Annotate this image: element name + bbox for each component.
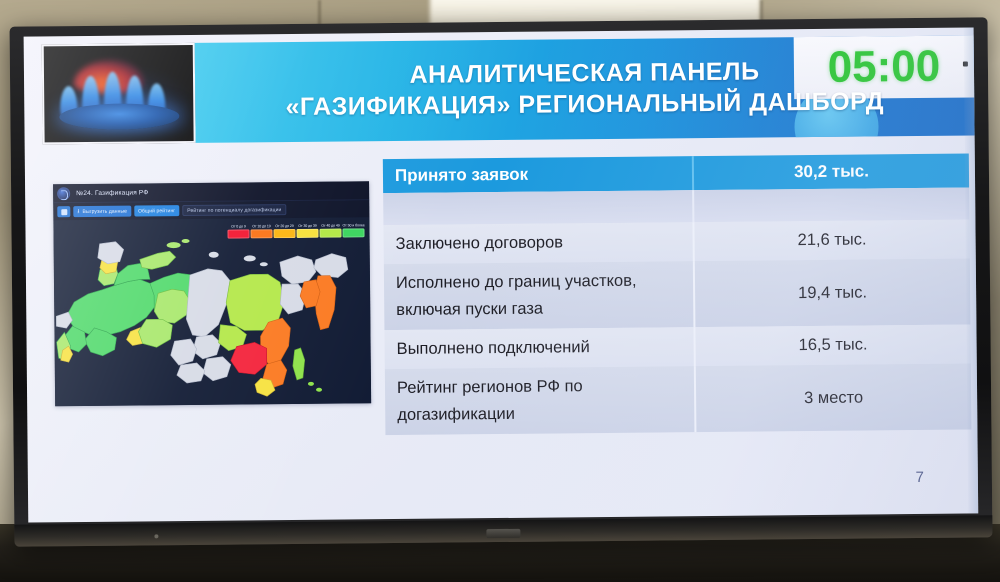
map-region xyxy=(138,319,172,347)
spacer-value xyxy=(693,188,969,223)
table-row: Исполнено до границ участков, включая пу… xyxy=(384,258,971,330)
page-number: 7 xyxy=(915,469,924,486)
map-region-nodata xyxy=(177,363,205,383)
timer-value: 05:00 xyxy=(827,45,940,90)
monitor-led xyxy=(154,534,158,538)
row-label: Выполнено подключений xyxy=(384,327,694,369)
monitor-brand-logo xyxy=(486,529,520,538)
map-region-nodata xyxy=(314,253,348,277)
indicators-table: Принято заявок 30,2 тыс. Заключено догов… xyxy=(383,154,972,436)
header-label: Принято заявок xyxy=(383,156,693,193)
legend-swatch xyxy=(319,229,341,238)
display-monitor: АНАЛИТИЧЕСКАЯ ПАНЕЛЬ «ГАЗИФИКАЦИЯ» РЕГИО… xyxy=(10,17,993,546)
room-scene: АНАЛИТИЧЕСКАЯ ПАНЕЛЬ «ГАЗИФИКАЦИЯ» РЕГИО… xyxy=(0,0,1000,582)
export-data-button[interactable]: ⭳ Выгрузить данные xyxy=(73,206,131,218)
map-region xyxy=(167,242,181,248)
map-region xyxy=(316,388,322,392)
banner-title-line1: АНАЛИТИЧЕСКАЯ ПАНЕЛЬ xyxy=(409,57,759,90)
table-row: Рейтинг регионов РФ по догазификации 3 м… xyxy=(385,363,972,435)
export-data-label: Выгрузить данные xyxy=(82,208,127,214)
map-canvas[interactable]: От 0 до 9 От 10 до 19 От 20 до 29 От 30 … xyxy=(53,217,371,406)
row-label: Заключено договоров xyxy=(383,222,693,264)
map-region-nodata xyxy=(203,357,231,381)
dashboard-title: №24. Газификация РФ xyxy=(76,189,148,197)
download-icon: ⭳ xyxy=(77,207,79,217)
map-region-nodata xyxy=(260,262,268,266)
map-region-nodata xyxy=(192,335,220,359)
overall-rating-tab[interactable]: Общий рейтинг xyxy=(134,205,179,216)
legend-swatch xyxy=(273,229,295,238)
app-logo-icon xyxy=(57,187,70,200)
legend-swatches xyxy=(227,228,364,238)
legend-swatch xyxy=(342,228,364,237)
map-region xyxy=(308,382,314,386)
map-region xyxy=(154,289,190,323)
slide-screen: АНАЛИТИЧЕСКАЯ ПАНЕЛЬ «ГАЗИФИКАЦИЯ» РЕГИО… xyxy=(24,27,979,522)
map-region xyxy=(182,239,190,243)
russia-map-svg xyxy=(53,217,371,406)
legend-swatch xyxy=(227,229,249,238)
map-legend: От 0 до 9 От 10 до 19 От 20 до 29 От 30 … xyxy=(227,222,364,238)
map-region-nodata xyxy=(280,256,316,284)
spacer-label xyxy=(383,190,693,225)
regional-dashboard-panel[interactable]: №24. Газификация РФ ⭳ Выгрузить данные О… xyxy=(53,181,371,406)
grid-icon[interactable] xyxy=(57,206,70,217)
row-label: Рейтинг регионов РФ по догазификации xyxy=(385,366,696,435)
table-header-row: Принято заявок 30,2 тыс. xyxy=(383,154,969,194)
row-value: 16,5 тыс. xyxy=(694,324,970,366)
slide-header: АНАЛИТИЧЕСКАЯ ПАНЕЛЬ «ГАЗИФИКАЦИЯ» РЕГИО… xyxy=(42,35,975,148)
table-row: Заключено договоров 21,6 тыс. xyxy=(383,220,969,265)
gas-burner-flame-icon xyxy=(42,43,196,144)
legend-swatch xyxy=(296,229,318,238)
row-label: Исполнено до границ участков, включая пу… xyxy=(384,261,695,330)
map-region xyxy=(140,251,176,269)
banner-title-line2: «ГАЗИФИКАЦИЯ» РЕГИОНАЛЬНЫЙ ДАШБОРД xyxy=(285,85,884,123)
map-region-nodata xyxy=(171,339,197,365)
map-region-nodata xyxy=(209,252,219,258)
row-value: 19,4 тыс. xyxy=(694,258,971,327)
map-region xyxy=(293,348,305,380)
map-region-nodata xyxy=(244,255,256,261)
header-value: 30,2 тыс. xyxy=(693,154,969,191)
row-value: 3 место xyxy=(695,363,972,432)
row-value: 21,6 тыс. xyxy=(693,220,969,262)
legend-swatch xyxy=(250,229,272,238)
potential-rating-tab[interactable]: Рейтинг по потенциалу догазификации xyxy=(182,204,286,216)
table-row: Выполнено подключений 16,5 тыс. xyxy=(384,324,970,369)
